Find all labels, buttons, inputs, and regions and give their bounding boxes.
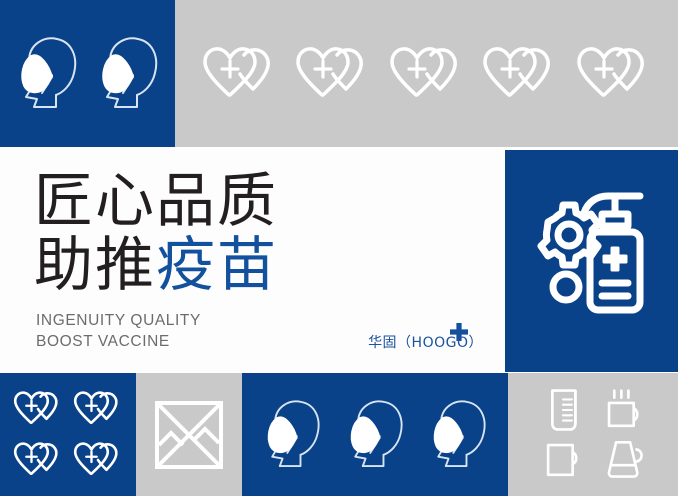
masked-face-icon [259, 394, 325, 476]
broken-image-grey-panel [136, 373, 242, 496]
poster-canvas: 匠心品质 助推疫苗 INGENUITY QUALITY BOOST VACCIN… [0, 0, 678, 496]
masked-face-icon [12, 31, 82, 117]
double-heart-grid [0, 373, 136, 496]
double-heart-plus-icon [290, 43, 376, 105]
masked-face-row [0, 0, 175, 147]
subtitle-line-2: BOOST VACCINE [36, 331, 201, 352]
sanitizer-blue-panel [505, 150, 678, 372]
beaker-icon [545, 387, 581, 433]
double-heart-plus-icon [197, 43, 283, 105]
masked-face-row-bottom [242, 373, 508, 496]
double-heart-plus-icon [10, 388, 66, 430]
double-heart-plus-icon [10, 439, 66, 481]
subtitle-block: INGENUITY QUALITY BOOST VACCINE [36, 310, 201, 352]
broken-image-wrap [136, 373, 242, 496]
headline-line-2: 助推疫苗 [34, 233, 278, 297]
masked-face-icon [425, 394, 491, 476]
double-heart-plus-icon [70, 388, 126, 430]
mug-icon [541, 438, 585, 480]
sanitizer-icon-group [505, 150, 678, 372]
circle-icon [553, 274, 579, 300]
headline-line-1: 匠心品质 [34, 169, 278, 233]
masked-faces-blue-panel [0, 0, 175, 147]
double-heart-grey-panel [175, 0, 678, 147]
vessels-grey-panel [508, 373, 678, 496]
kettle-icon [602, 437, 646, 481]
masked-face-icon [342, 394, 408, 476]
vessel-icon-grid [508, 373, 678, 496]
double-heart-plus-icon [477, 43, 563, 105]
headline-line-2-black: 助推 [34, 230, 156, 299]
double-heart-blue-panel [0, 373, 136, 496]
steaming-mug-icon [602, 387, 646, 433]
double-heart-plus-icon [571, 43, 657, 105]
masked-faces-blue-panel-bottom [242, 373, 508, 496]
broken-image-icon [153, 399, 225, 471]
headline-block: 匠心品质 助推疫苗 [34, 169, 278, 297]
masked-face-icon [93, 31, 163, 117]
headline-line-2-accent: 疫苗 [156, 230, 278, 299]
double-heart-plus-icon [70, 439, 126, 481]
double-heart-plus-icon [384, 43, 470, 105]
double-heart-row [175, 0, 678, 147]
headline-white-panel: 匠心品质 助推疫苗 INGENUITY QUALITY BOOST VACCIN… [0, 147, 501, 372]
subtitle-line-1: INGENUITY QUALITY [36, 310, 201, 331]
brand-name: 华固（HOOGO） [368, 332, 483, 352]
